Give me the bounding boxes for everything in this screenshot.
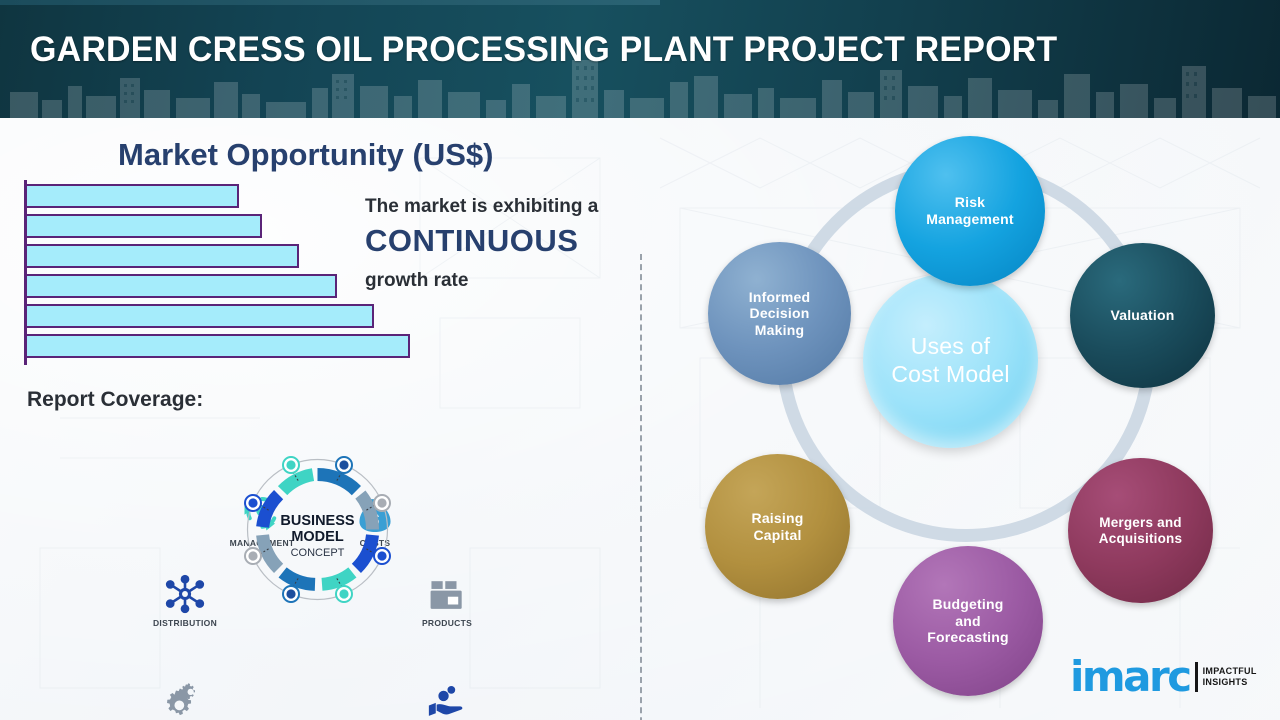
node-risk-management[interactable]: Risk Management: [895, 136, 1045, 286]
node-mergers-and-acquisitions[interactable]: Mergers and Acquisitions: [1068, 458, 1213, 603]
logo-separator: [1195, 662, 1198, 692]
tagline-line-2: INSIGHTS: [1203, 677, 1257, 688]
node-center-uses-of-cost-model: Uses of Cost Model: [863, 273, 1038, 448]
left-panel: Market Opportunity (US$) The market is e…: [0, 118, 640, 720]
hand-coins-icon: [395, 675, 499, 720]
coverage-item-revenue: REVENUE: [395, 675, 499, 720]
center-line-1: Uses of: [891, 333, 1009, 360]
page-header: GARDEN CRESS OIL PROCESSING PLANT PROJEC…: [0, 0, 1280, 118]
market-opportunity-bar-chart: [24, 180, 424, 365]
coverage-item-distribution: DISTRIBUTION: [133, 568, 237, 628]
wheel-line-3: CONCEPT: [291, 547, 345, 559]
callout-emphasis: CONTINUOUS: [365, 223, 578, 259]
report-coverage-label: Report Coverage:: [27, 388, 203, 412]
coverage-item-services: SERVICES: [133, 675, 237, 720]
node-label-line-2: Acquisitions: [1099, 531, 1182, 547]
node-informed-decision-making[interactable]: Informed Decision Making: [708, 242, 851, 385]
tagline-line-1: IMPACTFUL: [1203, 666, 1257, 677]
slide-body: Market Opportunity (US$) The market is e…: [0, 118, 1280, 720]
imarc-wordmark: imarc: [1070, 660, 1190, 694]
page-title: GARDEN CRESS OIL PROCESSING PLANT PROJEC…: [30, 30, 1057, 70]
node-label-line-1: Raising: [752, 510, 804, 527]
bar-row: [27, 304, 374, 328]
bar-row: [27, 334, 410, 358]
node-label-line-2: and: [927, 613, 1009, 630]
bar-row: [27, 244, 299, 268]
center-line-2: Cost Model: [891, 361, 1009, 388]
network-nodes-icon: [133, 568, 237, 614]
package-box-icon: [395, 568, 499, 614]
callout-line-1: The market is exhibiting a: [365, 196, 598, 218]
callout-line-3: growth rate: [365, 270, 468, 292]
node-label-line-1: Mergers and: [1099, 515, 1182, 531]
node-label-line-1: Budgeting: [927, 596, 1009, 613]
node-label-line-3: Forecasting: [927, 629, 1009, 646]
wheel-line-2: MODEL: [291, 529, 344, 545]
imarc-logo[interactable]: imarc IMPACTFUL INSIGHTS: [1070, 660, 1257, 694]
node-label-line-1: Informed: [749, 289, 811, 306]
bar-row: [27, 184, 239, 208]
node-label-line-1: Risk: [926, 194, 1014, 211]
imarc-tagline: IMPACTFUL INSIGHTS: [1203, 666, 1257, 688]
bar-row: [27, 214, 262, 238]
market-opportunity-title: Market Opportunity (US$): [118, 137, 493, 173]
node-label-line-2: Management: [926, 211, 1014, 228]
node-label-line-3: Making: [749, 322, 811, 339]
node-valuation[interactable]: Valuation: [1070, 243, 1215, 388]
node-budgeting-and-forecasting[interactable]: Budgeting and Forecasting: [893, 546, 1043, 696]
bar-row: [27, 274, 337, 298]
node-label-line-2: Decision: [749, 305, 811, 322]
node-label-line-1: Valuation: [1110, 307, 1174, 324]
right-panel: Uses of Cost Model Risk Management Valua…: [640, 118, 1280, 720]
wheel-line-1: BUSINESS: [280, 513, 354, 529]
node-raising-capital[interactable]: Raising Capital: [705, 454, 850, 599]
gears-icon: [133, 675, 237, 720]
coverage-item-label: DISTRIBUTION: [133, 618, 237, 628]
business-model-wheel: BUSINESS MODEL CONCEPT: [236, 448, 399, 611]
node-label-line-2: Capital: [752, 527, 804, 544]
coverage-item-label: PRODUCTS: [395, 618, 499, 628]
header-top-accent-bar: [0, 0, 660, 5]
coverage-item-products: PRODUCTS: [395, 568, 499, 628]
